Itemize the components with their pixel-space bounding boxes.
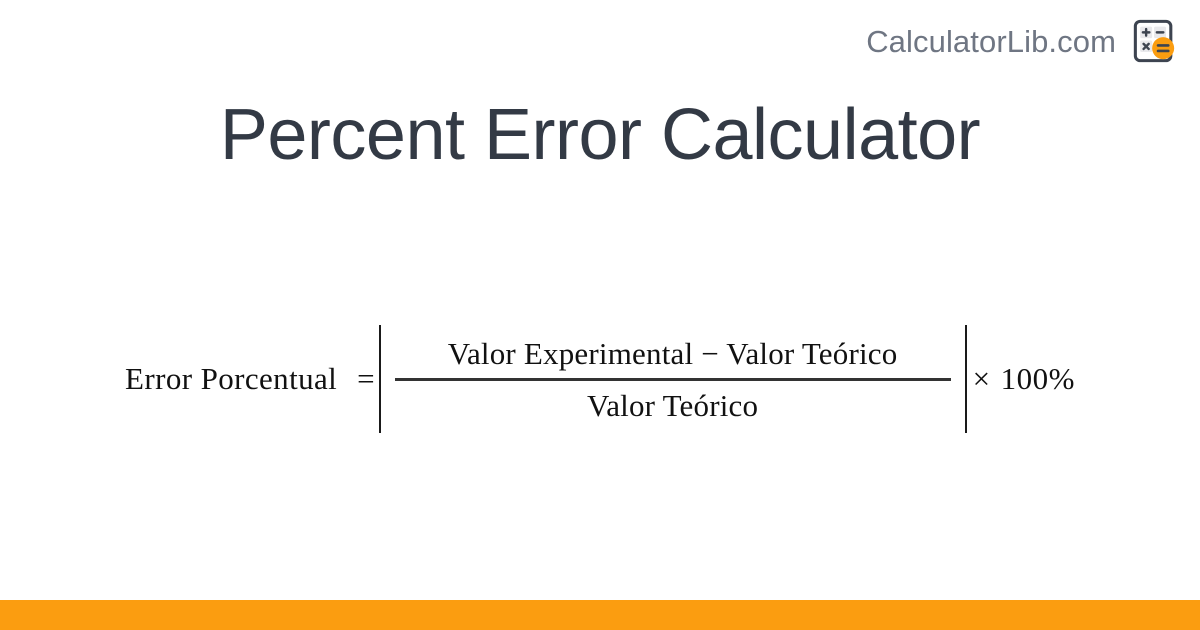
percent-error-formula: Error Porcentual = Valor Experimental − … (125, 318, 1075, 440)
formula-numerator: Valor Experimental − Valor Teórico (442, 338, 904, 378)
formula-area: Error Porcentual = Valor Experimental − … (0, 318, 1200, 440)
percent-error-calculator-card: { "brand": { "name": "CalculatorLib.com"… (0, 0, 1200, 630)
multiplication-sign: × (973, 361, 1001, 396)
absolute-value-bar-left (379, 325, 381, 433)
formula-equals-sign: = (349, 361, 378, 397)
brand-logo (1132, 18, 1178, 64)
page-title: Percent Error Calculator (0, 96, 1200, 175)
formula-multiplier-group: ×100% (967, 361, 1075, 397)
bottom-accent-bar (0, 600, 1200, 630)
calculator-icon (1132, 18, 1178, 64)
brand-name: CalculatorLib.com (866, 26, 1116, 57)
formula-left-label: Error Porcentual (125, 361, 349, 397)
brand-bar: CalculatorLib.com (866, 18, 1178, 64)
formula-multiplier-value: 100% (1001, 361, 1075, 396)
formula-denominator: Valor Teórico (581, 381, 764, 421)
formula-fraction: Valor Experimental − Valor Teórico Valor… (395, 338, 951, 421)
